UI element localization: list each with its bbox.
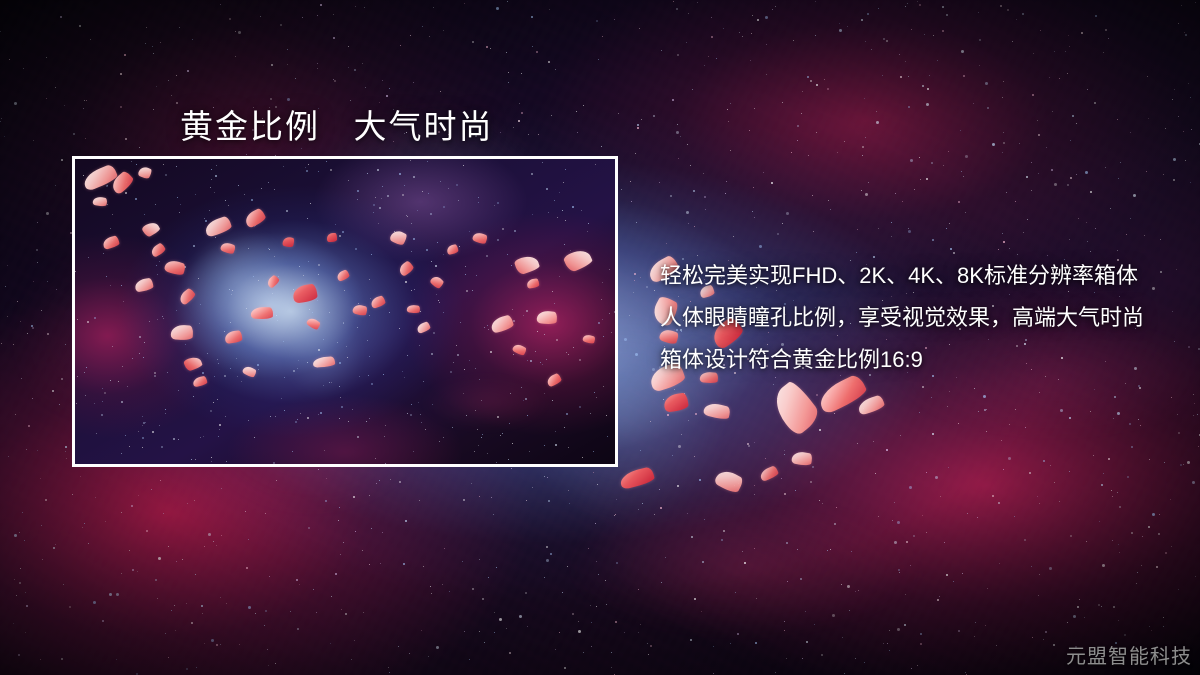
body-line-2: 人体眼睛瞳孔比例，享受视觉效果，高端大气时尚 — [660, 297, 1180, 339]
petal — [407, 304, 421, 314]
preview-image-frame[interactable] — [72, 156, 618, 467]
petal — [767, 379, 823, 438]
petal — [713, 467, 744, 495]
preview-starfield-bright — [75, 159, 77, 161]
preview-image-wisps — [75, 159, 615, 464]
starfield-bright — [0, 0, 3, 3]
petal — [759, 465, 780, 482]
petal — [171, 324, 194, 340]
petal — [856, 394, 885, 415]
petal — [703, 401, 732, 421]
petal — [251, 307, 273, 320]
petal — [791, 450, 813, 466]
page-title: 黄金比例 大气时尚 — [180, 100, 494, 148]
petal — [327, 233, 337, 242]
petal — [663, 392, 689, 412]
body-line-3: 箱体设计符合黄金比例16:9 — [660, 339, 1180, 381]
petal — [619, 466, 656, 490]
petal — [536, 310, 557, 325]
slide-canvas: 黄金比例 大气时尚 轻松完美实现FHD、2K、4K、8K标准分辨率箱体 人体眼睛… — [0, 0, 1200, 675]
body-text-block: 轻松完美实现FHD、2K、4K、8K标准分辨率箱体 人体眼睛瞳孔比例，享受视觉效… — [660, 255, 1180, 381]
body-line-1: 轻松完美实现FHD、2K、4K、8K标准分辨率箱体 — [660, 255, 1180, 297]
watermark-label: 元盟智能科技 — [1066, 640, 1192, 669]
